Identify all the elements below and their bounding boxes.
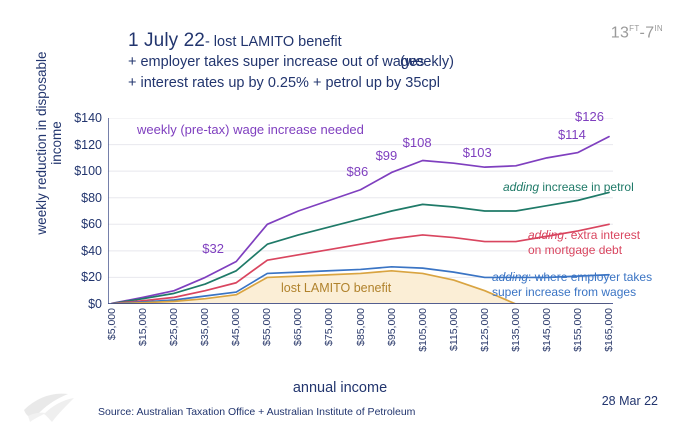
- x-tick-label: $5,000: [106, 308, 118, 340]
- x-tick-label: $105,000: [417, 308, 429, 352]
- x-tick-label: $165,000: [603, 308, 615, 352]
- y-tick-label: $140: [74, 111, 102, 125]
- weekly-tag: (weekly): [400, 54, 454, 70]
- y-axis-tick-labels: $0$20$40$60$80$100$120$140: [40, 110, 102, 312]
- data-label: $103: [463, 145, 492, 160]
- y-tick-label: $100: [74, 164, 102, 178]
- data-label: $99: [376, 148, 398, 163]
- title-line-2: + employer takes super increase out of w…: [128, 52, 608, 73]
- x-tick-label: $85,000: [355, 308, 367, 346]
- x-tick-label: $125,000: [479, 308, 491, 352]
- data-label: $86: [347, 164, 369, 179]
- title-line-1-rest: - lost LAMITO benefit: [205, 34, 342, 50]
- logo-feet-value: 13: [611, 24, 629, 41]
- green-label-rest: increase in petrol: [539, 180, 634, 194]
- x-tick-label: $95,000: [386, 308, 398, 346]
- y-tick-label: $120: [74, 138, 102, 152]
- series-label-red: adding: extra interest: [528, 228, 640, 242]
- series-label-blue-line2: super increase from wages: [492, 285, 636, 299]
- logo-inches-unit: IN: [654, 24, 663, 33]
- area-label-lamito: lost LAMITO benefit: [281, 281, 391, 295]
- x-tick-label: $115,000: [448, 308, 460, 351]
- series-label-green: adding increase in petrol: [503, 180, 634, 194]
- bird-watermark-icon: [22, 388, 84, 428]
- series-label-purple: weekly (pre-tax) wage increase needed: [137, 122, 364, 137]
- x-tick-label: $155,000: [572, 308, 584, 352]
- x-tick-label: $25,000: [168, 308, 180, 346]
- data-label: $108: [403, 135, 432, 150]
- x-tick-label: $145,000: [541, 308, 553, 352]
- data-label: $32: [202, 241, 224, 256]
- red-label-rest: : extra interest: [564, 228, 640, 242]
- source-note: Source: Australian Taxation Office + Aus…: [98, 406, 415, 418]
- y-tick-label: $0: [88, 297, 102, 311]
- logo-inches-value: 7: [645, 24, 654, 41]
- red-adding-word: adding: [528, 228, 564, 242]
- brand-logo: 13FT-7IN: [611, 24, 663, 42]
- y-tick-label: $20: [81, 270, 102, 284]
- series-label-blue: adding: where employer takes: [492, 270, 652, 284]
- x-tick-label: $55,000: [261, 308, 273, 346]
- x-tick-label: $35,000: [199, 308, 211, 346]
- blue-label-rest: : where employer takes: [528, 270, 652, 284]
- x-axis-title: annual income: [0, 380, 680, 396]
- x-tick-label: $15,000: [137, 308, 149, 346]
- publish-date: 28 Mar 22: [602, 394, 658, 408]
- blue-adding-word: adding: [492, 270, 528, 284]
- y-tick-label: $40: [81, 244, 102, 258]
- data-label: $126: [575, 109, 604, 124]
- title-line-1: 1 July 22- lost LAMITO benefit: [128, 30, 608, 52]
- x-tick-label: $135,000: [510, 308, 522, 352]
- x-tick-label: $65,000: [292, 308, 304, 346]
- logo-feet-unit: FT: [629, 24, 639, 33]
- chart-title-block: 1 July 22- lost LAMITO benefit + employe…: [128, 30, 608, 94]
- chart-canvas: 1 July 22- lost LAMITO benefit + employe…: [0, 0, 680, 444]
- x-axis-tick-labels: $5,000$15,000$25,000$35,000$45,000$55,00…: [108, 308, 613, 376]
- title-line-3: + interest rates up by 0.25% + petrol up…: [128, 73, 608, 94]
- green-adding-word: adding: [503, 180, 539, 194]
- title-date: 1 July 22: [128, 30, 205, 51]
- y-tick-label: $80: [81, 191, 102, 205]
- data-label: $114: [558, 127, 586, 142]
- series-label-red-line2: on mortgage debt: [528, 243, 622, 257]
- y-tick-label: $60: [81, 217, 102, 231]
- x-tick-label: $75,000: [323, 308, 335, 346]
- x-tick-label: $45,000: [230, 308, 242, 346]
